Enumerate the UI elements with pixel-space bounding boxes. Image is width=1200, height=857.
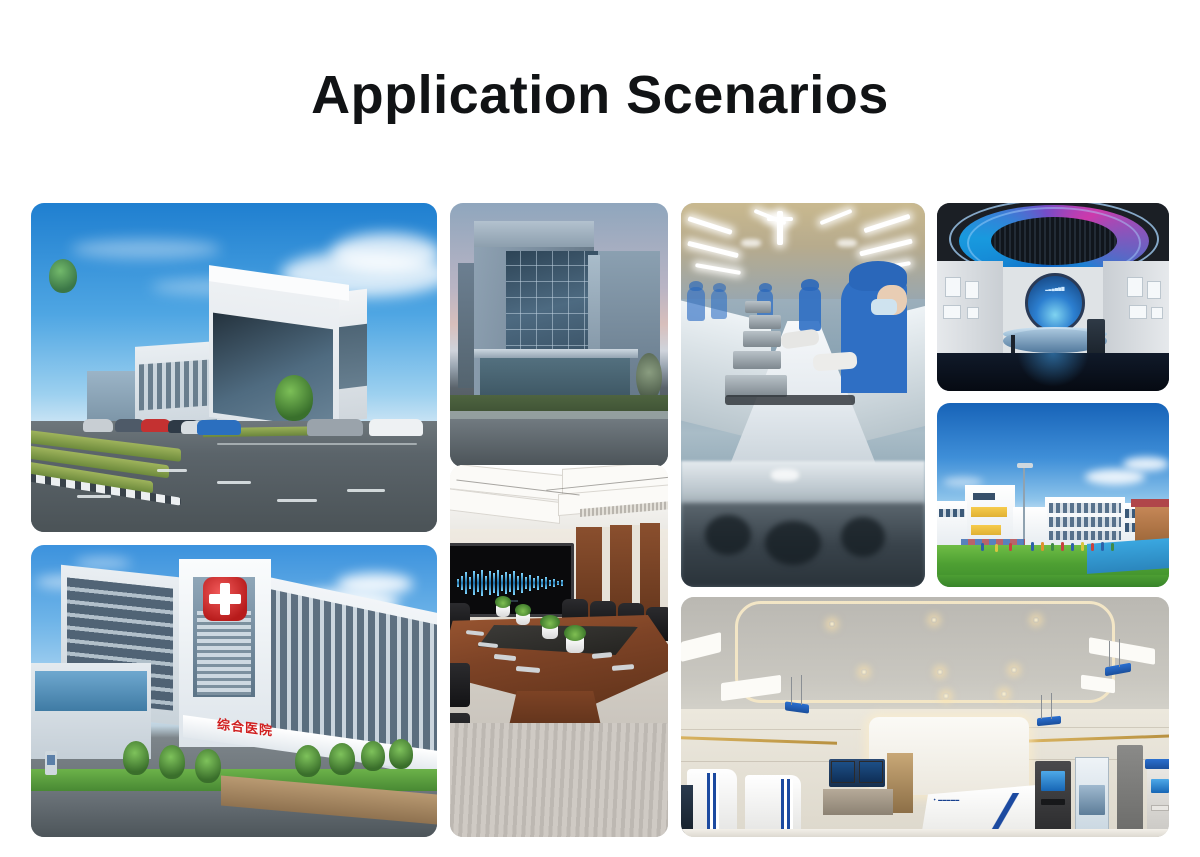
page-title: Application Scenarios (0, 66, 1200, 125)
scenario-card-office-building[interactable] (450, 203, 668, 467)
scenario-card-industrial-campus[interactable] (31, 203, 437, 532)
scenario-card-exhibition-hall[interactable]: ▂▃▄▅▆▇ (937, 203, 1169, 391)
hospital-image: 综合医院 (31, 545, 437, 837)
bank-counter-logo: ✦ ▬▬▬▬▬ (933, 797, 960, 802)
scenario-card-school-campus[interactable] (937, 403, 1169, 587)
factory-production-line-image (681, 203, 925, 587)
school-campus-image (937, 403, 1169, 587)
scenario-card-factory-production-line[interactable] (681, 203, 925, 587)
industrial-campus-image (31, 203, 437, 532)
bank-branch-image: ✦ ▬▬▬▬▬ (681, 597, 1169, 837)
audio-waveform (455, 570, 567, 596)
scenario-gallery-grid: ▂▃▄▅▆▇ (31, 203, 1169, 837)
application-scenarios-page: Application Scenarios (0, 0, 1200, 857)
exhibition-hall-image: ▂▃▄▅▆▇ (937, 203, 1169, 391)
scenario-card-hospital[interactable]: 综合医院 (31, 545, 437, 837)
office-building-image (450, 203, 668, 467)
scenario-card-conference-room[interactable]: ▭▭▭▭ (450, 465, 668, 837)
scenario-card-bank-branch[interactable]: ✦ ▬▬▬▬▬ (681, 597, 1169, 837)
conference-room-image: ▭▭▭▭ (450, 465, 668, 837)
